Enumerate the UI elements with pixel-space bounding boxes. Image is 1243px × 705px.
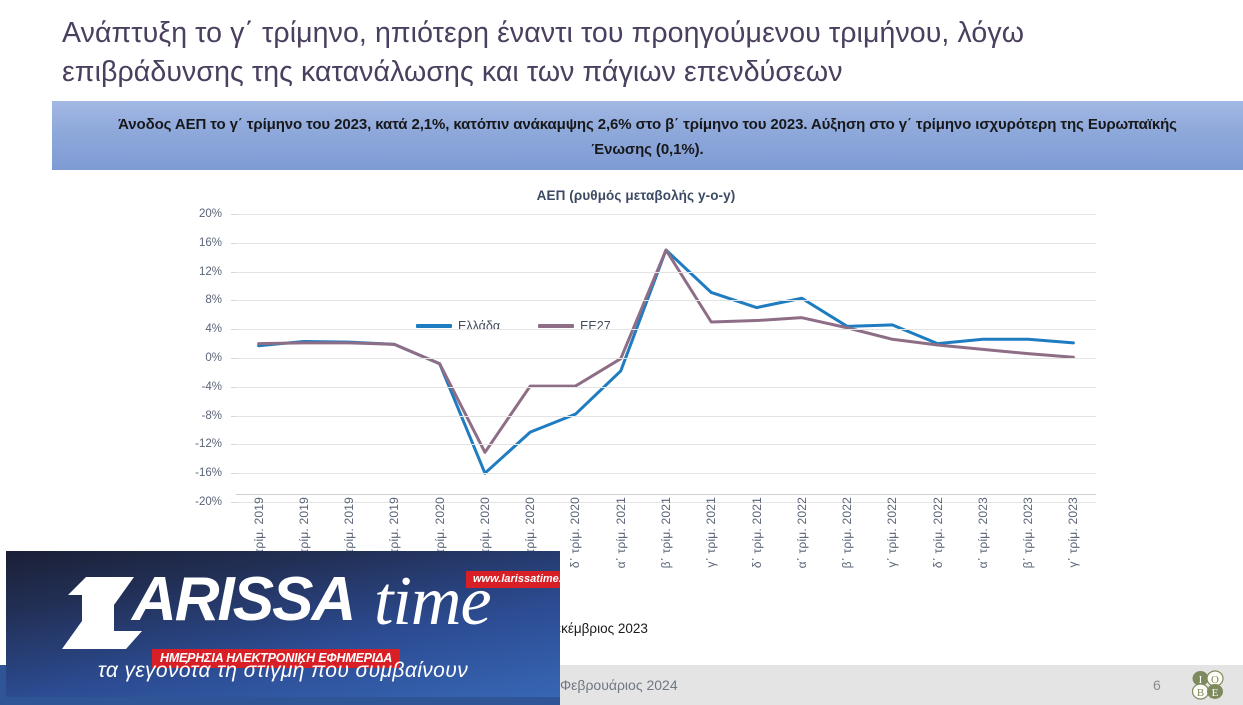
grid-line [236,416,1096,417]
larissatime-url: www.larissatime.gr [466,571,560,588]
y-axis: 20%16%12%8%4%0%-4%-8%-12%-16%-20% [176,214,228,502]
axis-tickmark [231,444,236,445]
x-axis-line [236,494,1096,495]
chart-legend: Ελλάδα ΕΕ27 [416,319,611,333]
svg-text:Β: Β [1197,687,1204,699]
larissatime-slogan: τα γεγονότα τη στιγμή που συμβαίνουν [6,659,560,683]
grid-line [236,300,1096,301]
x-axis-tick-label: δ΄ τρίμ. 2022 [931,497,945,568]
chart-title: ΑΕΠ (ρυθμός μεταβολής y-o-y) [176,188,1096,203]
legend-label-eu27: ΕΕ27 [580,319,611,333]
y-axis-tick: 16% [199,237,222,249]
grid-line [236,272,1096,273]
larissatime-watermark: ARISSA time www.larissatime.gr ΗΜΕΡΗΣΙΑ … [6,551,560,697]
axis-tickmark [231,300,236,301]
y-axis-tick: -20% [195,496,222,508]
legend-item-greece: Ελλάδα [416,319,500,333]
axis-tickmark [231,329,236,330]
subtitle-text: Άνοδος ΑΕΠ το γ΄ τρίμηνο του 2023, κατά … [88,113,1207,162]
axis-tickmark [231,416,236,417]
y-axis-tick: 4% [205,323,222,335]
y-axis-tick: -8% [202,410,222,422]
y-axis-tick: -4% [202,381,222,393]
larissa-wordmark: ARISSA [132,569,354,631]
page-number: 6 [1153,677,1161,693]
page-title: Ανάπτυξη το γ΄ τρίμηνο, ηπιότερη έναντι … [62,14,1182,92]
footer-date: Φεβρουάριος 2024 [560,677,678,693]
grid-line [236,358,1096,359]
y-axis-tick: -12% [195,438,222,450]
x-axis-tick-label: δ΄ τρίμ. 2021 [750,497,764,568]
legend-swatch-eu27 [538,324,574,327]
gdp-chart: ΑΕΠ (ρυθμός μεταβολής y-o-y) 20%16%12%8%… [176,188,1096,518]
x-axis-tick-label: β΄ τρίμ. 2021 [659,497,673,568]
axis-tickmark [231,272,236,273]
grid-line [236,387,1096,388]
svg-text:Ο: Ο [1211,674,1219,686]
x-axis-tick-label: δ΄ τρίμ. 2020 [568,497,582,568]
axis-tickmark [231,358,236,359]
grid-line [236,329,1096,330]
x-axis-tick-label: β΄ τρίμ. 2022 [840,497,854,568]
plot-area: Ελλάδα ΕΕ27 [236,214,1096,502]
x-axis-tick-label: γ΄ τρίμ. 2021 [704,497,718,567]
grid-line [236,243,1096,244]
larissatime-logo: ARISSA time www.larissatime.gr ΗΜΕΡΗΣΙΑ … [48,567,560,655]
axis-tickmark [231,243,236,244]
grid-line [236,214,1096,215]
grid-line [236,473,1096,474]
x-axis-tick-label: γ΄ τρίμ. 2023 [1066,497,1080,567]
x-axis-tick-label: α΄ τρίμ. 2023 [976,497,990,568]
chart-plot-wrapper: 20%16%12%8%4%0%-4%-8%-12%-16%-20% Ελλάδα… [176,214,1096,502]
iobe-logo-icon: Ι Ο Β Ε [1191,670,1225,700]
axis-tickmark [231,473,236,474]
legend-item-eu27: ΕΕ27 [538,319,611,333]
svg-text:Ι: Ι [1199,674,1203,686]
series-line-greece [259,250,1074,473]
y-axis-tick: 12% [199,266,222,278]
axis-tickmark [231,214,236,215]
svg-text:Ε: Ε [1212,687,1219,699]
subtitle-banner: Άνοδος ΑΕΠ το γ΄ τρίμηνο του 2023, κατά … [52,101,1243,170]
y-axis-tick: -16% [195,467,222,479]
legend-label-greece: Ελλάδα [458,319,500,333]
slide-root: Ανάπτυξη το γ΄ τρίμηνο, ηπιότερη έναντι … [0,0,1243,705]
x-axis-tick-label: β΄ τρίμ. 2023 [1021,497,1035,568]
y-axis-tick: 0% [205,352,222,364]
y-axis-tick: 8% [205,294,222,306]
grid-line [236,444,1096,445]
legend-swatch-greece [416,324,452,327]
y-axis-tick: 20% [199,208,222,220]
x-axis-tick-label: α΄ τρίμ. 2021 [614,497,628,568]
x-axis-tick-label: γ΄ τρίμ. 2022 [885,497,899,567]
series-line-eu27 [259,250,1074,452]
axis-tickmark [231,387,236,388]
x-axis-tick-label: α΄ τρίμ. 2022 [795,497,809,568]
